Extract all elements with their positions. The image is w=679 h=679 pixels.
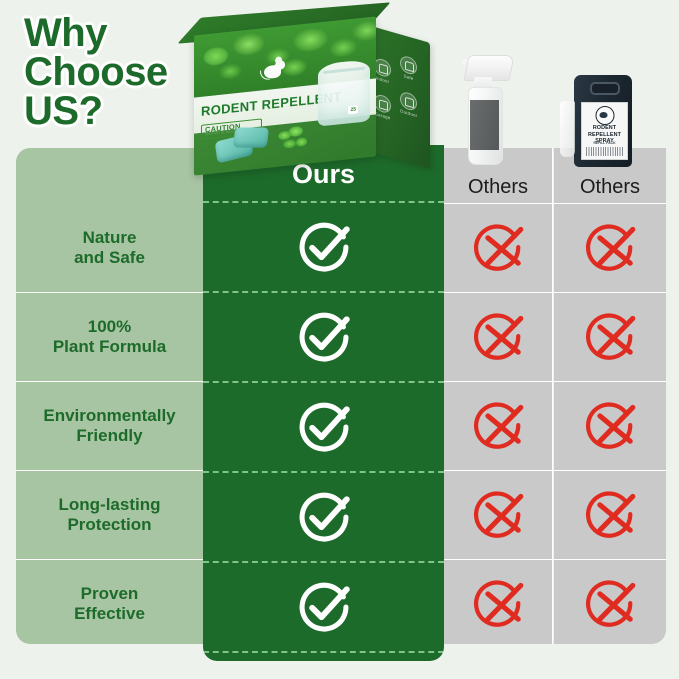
cross-icon <box>583 310 637 364</box>
others-2-cell-plant-formula <box>554 293 666 382</box>
garage-icon: Garage <box>374 93 391 121</box>
others-2-cell-proven-effective <box>554 560 666 644</box>
cross-icon <box>471 399 525 453</box>
jug-label-line-3: REFILL PACK <box>582 141 627 145</box>
others-1-cell-long-lasting-protection <box>444 471 552 560</box>
others-1-cell-nature-and-safe <box>444 204 552 293</box>
cross-icon <box>583 577 637 631</box>
others-column-1: Others <box>444 148 553 644</box>
others-1-cell-plant-formula <box>444 293 552 382</box>
ours-column: Ours <box>203 145 444 661</box>
check-icon <box>297 220 351 274</box>
feature-label-column: Nature and Safe 100% Plant Formula Envir… <box>16 148 203 644</box>
ours-cell-nature-and-safe <box>203 203 444 293</box>
check-icon <box>297 310 351 364</box>
others-1-cell-proven-effective <box>444 560 552 644</box>
cross-icon <box>583 221 637 275</box>
other-repellent-jug-image: RODENT REPELLENT SPRAY REFILL PACK <box>560 75 632 167</box>
outdoor-icon: Outdoor <box>400 90 417 118</box>
box-side-panel: Indoor Safe Garage Outdoor <box>368 25 430 169</box>
cross-icon <box>471 221 525 275</box>
others-2-cell-long-lasting-protection <box>554 471 666 560</box>
repellent-pouch-graphic <box>318 59 370 126</box>
cross-icon <box>471 310 525 364</box>
other-spray-bottle-image <box>462 55 510 165</box>
indoor-icon: Indoor <box>374 57 391 85</box>
repellent-tablets-graphic <box>216 125 276 165</box>
mint-sprig-graphic <box>276 124 310 156</box>
cross-icon <box>471 488 525 542</box>
jug-label-line-1: RODENT <box>582 125 627 131</box>
feature-label-nature-and-safe: Nature and Safe <box>16 204 203 293</box>
page-title: Why Choose US? <box>24 14 204 132</box>
others-2-cell-nature-and-safe <box>554 204 666 293</box>
others-1-cell-environmentally-friendly <box>444 382 552 471</box>
feature-column-header-spacer <box>16 148 203 204</box>
feature-label-environmentally-friendly: Environmentally Friendly <box>16 382 203 471</box>
feature-label-proven-effective: Proven Effective <box>16 560 203 644</box>
others-2-cell-environmentally-friendly <box>554 382 666 471</box>
mouse-illustration <box>260 54 290 87</box>
feature-label-long-lasting-protection: Long-lasting Protection <box>16 471 203 560</box>
cross-icon <box>583 399 637 453</box>
safe-icon: Safe <box>400 54 417 82</box>
box-front-face: RODENT REPELLENT CAUTION KEEP OUT OF REA… <box>194 16 376 175</box>
jug-brand-logo-icon <box>595 106 614 125</box>
check-icon <box>297 580 351 634</box>
ours-cell-long-lasting-protection <box>203 473 444 563</box>
count-badge: 25 <box>348 105 358 114</box>
cross-icon <box>583 488 637 542</box>
ours-cell-environmentally-friendly <box>203 383 444 473</box>
ours-cell-proven-effective <box>203 563 444 653</box>
ours-cell-plant-formula <box>203 293 444 383</box>
ours-column-footer <box>203 653 444 661</box>
others-column-2: Others <box>554 148 666 644</box>
cross-icon <box>471 577 525 631</box>
check-icon <box>297 400 351 454</box>
our-product-box-image: Indoor Safe Garage Outdoor RODENT REPELL… <box>186 8 438 180</box>
check-icon <box>297 490 351 544</box>
comparison-table: Nature and Safe 100% Plant Formula Envir… <box>16 148 666 664</box>
feature-label-plant-formula: 100% Plant Formula <box>16 293 203 382</box>
